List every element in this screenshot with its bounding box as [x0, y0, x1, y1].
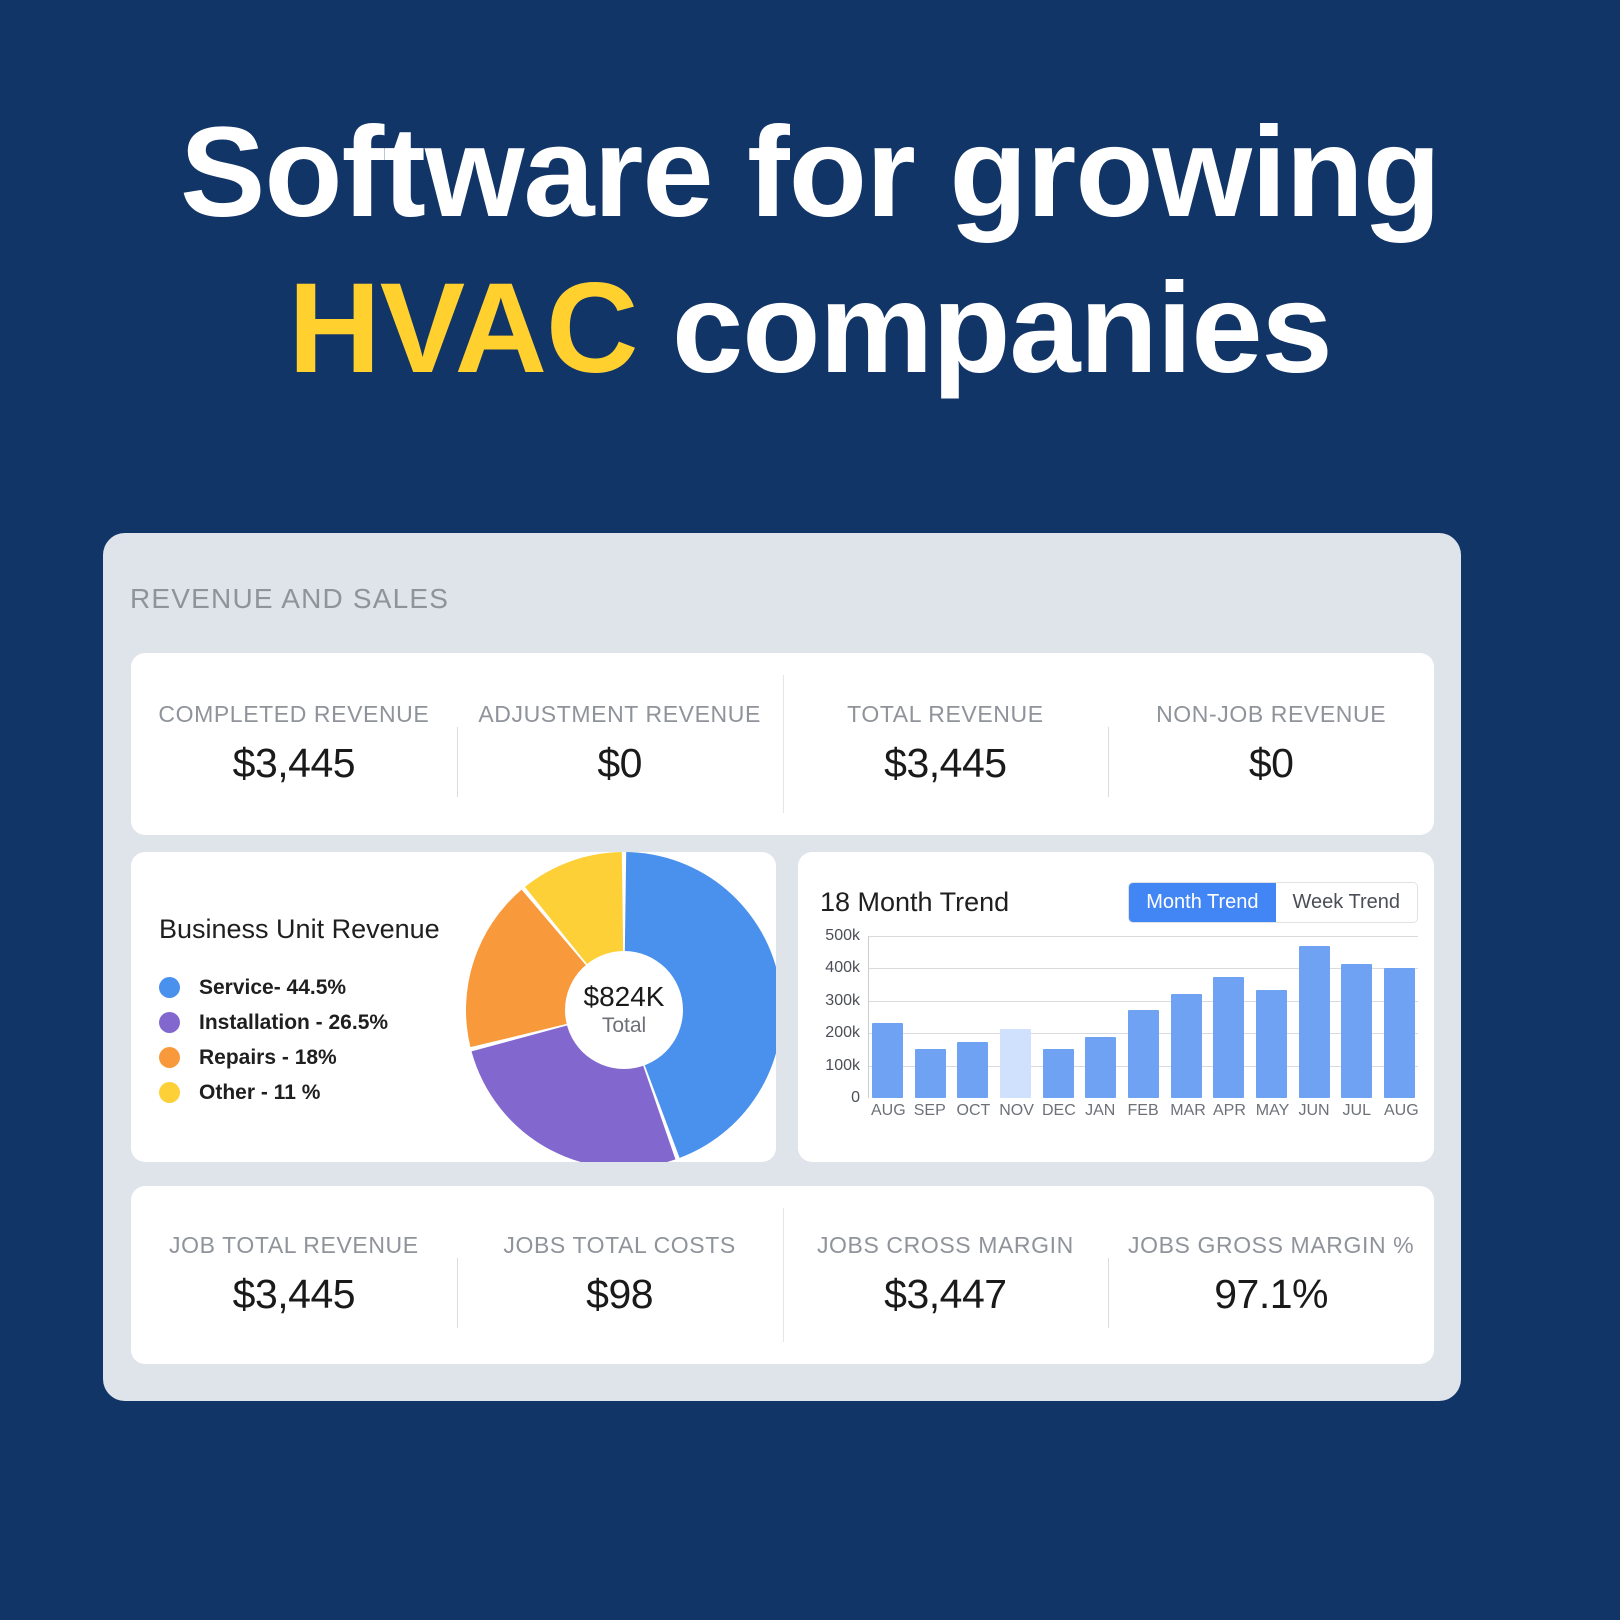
kpi-value: $3,447 [789, 1271, 1103, 1318]
kpi-row-bottom: JOB TOTAL REVENUE $3,445 JOBS TOTAL COST… [131, 1186, 1434, 1364]
bar[interactable] [915, 1049, 946, 1098]
x-axis-tick-label: OCT [957, 1102, 988, 1120]
kpi-value: $3,445 [137, 1271, 451, 1318]
x-axis-tick-label: AUG [871, 1102, 902, 1120]
kpi-job-total-revenue: JOB TOTAL REVENUE $3,445 [131, 1232, 457, 1318]
kpi-completed-revenue: COMPLETED REVENUE $3,445 [131, 701, 457, 787]
kpi-label: TOTAL REVENUE [789, 701, 1103, 728]
kpi-label: JOBS TOTAL COSTS [463, 1232, 777, 1259]
kpi-jobs-gross-margin-pct: JOBS GROSS MARGIN % 97.1% [1108, 1232, 1434, 1318]
bar[interactable] [1341, 964, 1372, 1098]
kpi-group-left: COMPLETED REVENUE $3,445 ADJUSTMENT REVE… [131, 653, 783, 835]
kpi-value: $0 [463, 740, 777, 787]
donut-legend: Service- 44.5%Installation - 26.5%Repair… [159, 970, 388, 1110]
bar[interactable] [1128, 1010, 1159, 1098]
kpi-value: 97.1% [1114, 1271, 1428, 1318]
bar[interactable] [1299, 946, 1330, 1098]
kpi-non-job-revenue: NON-JOB REVENUE $0 [1108, 701, 1434, 787]
legend-item[interactable]: Repairs - 18% [159, 1040, 388, 1075]
x-axis: AUGSEPOCTNOVDECJANFEBMARAPRMAYJUNJULAUG [868, 1102, 1418, 1120]
kpi-label: COMPLETED REVENUE [137, 701, 451, 728]
y-axis-tick-label: 200k [825, 1024, 860, 1042]
charts-row: Business Unit Revenue Service- 44.5%Inst… [131, 852, 1434, 1162]
trend-bar-chart: 0100k200k300k400k500k AUGSEPOCTNOVDECJAN… [820, 936, 1418, 1132]
bar[interactable] [957, 1042, 988, 1098]
legend-color-swatch [159, 1012, 180, 1033]
donut-chart-title: Business Unit Revenue [159, 914, 440, 945]
trend-toggle-group[interactable]: Month Trend Week Trend [1128, 882, 1418, 923]
x-axis-tick-label: JAN [1085, 1102, 1116, 1120]
bar[interactable] [1000, 1029, 1031, 1098]
hero-line-2: HVAC companies [100, 251, 1520, 407]
legend-color-swatch [159, 1047, 180, 1068]
kpi-adjustment-revenue: ADJUSTMENT REVENUE $0 [457, 701, 783, 787]
hero-line-2-rest: companies [637, 257, 1331, 400]
donut-total-caption: Total [602, 1014, 646, 1038]
section-title: REVENUE AND SALES [130, 583, 449, 615]
tab-week-trend[interactable]: Week Trend [1276, 883, 1417, 922]
plot-area [868, 936, 1418, 1098]
x-axis-tick-label: DEC [1042, 1102, 1073, 1120]
kpi-group-right-bottom: JOBS CROSS MARGIN $3,447 JOBS GROSS MARG… [783, 1186, 1435, 1364]
bar-series [869, 936, 1418, 1098]
kpi-label: ADJUSTMENT REVENUE [463, 701, 777, 728]
legend-label: Installation - 26.5% [199, 1011, 388, 1035]
kpi-label: JOB TOTAL REVENUE [137, 1232, 451, 1259]
kpi-value: $3,445 [789, 740, 1103, 787]
kpi-value: $98 [463, 1271, 777, 1318]
x-axis-tick-label: MAR [1170, 1102, 1201, 1120]
kpi-total-revenue: TOTAL REVENUE $3,445 [783, 701, 1109, 787]
legend-item[interactable]: Service- 44.5% [159, 970, 388, 1005]
y-axis-tick-label: 0 [851, 1089, 860, 1107]
donut-total-value: $824K [584, 982, 665, 1013]
tab-month-trend[interactable]: Month Trend [1129, 883, 1275, 922]
trend-chart-title: 18 Month Trend [820, 887, 1009, 918]
legend-color-swatch [159, 1082, 180, 1103]
donut-chart[interactable]: $824K Total [464, 852, 776, 1162]
bar[interactable] [1213, 977, 1244, 1098]
legend-item[interactable]: Installation - 26.5% [159, 1005, 388, 1040]
kpi-jobs-cross-margin: JOBS CROSS MARGIN $3,447 [783, 1232, 1109, 1318]
bar[interactable] [1384, 968, 1415, 1098]
bar[interactable] [1085, 1037, 1116, 1098]
month-trend-card: 18 Month Trend Month Trend Week Trend 01… [798, 852, 1434, 1162]
kpi-jobs-total-costs: JOBS TOTAL COSTS $98 [457, 1232, 783, 1318]
bar[interactable] [1043, 1049, 1074, 1098]
y-axis: 0100k200k300k400k500k [820, 936, 866, 1098]
business-unit-revenue-card: Business Unit Revenue Service- 44.5%Inst… [131, 852, 776, 1162]
kpi-label: JOBS GROSS MARGIN % [1114, 1232, 1428, 1259]
y-axis-tick-label: 500k [825, 927, 860, 945]
kpi-group-right: TOTAL REVENUE $3,445 NON-JOB REVENUE $0 [783, 653, 1435, 835]
trend-card-header: 18 Month Trend Month Trend Week Trend [820, 882, 1418, 923]
hero-accent-word: HVAC [288, 257, 637, 400]
donut-center-label: $824K Total [565, 951, 683, 1069]
y-axis-tick-label: 400k [825, 959, 860, 977]
x-axis-tick-label: APR [1213, 1102, 1244, 1120]
hero-line-1: Software for growing [100, 95, 1520, 251]
kpi-value: $0 [1114, 740, 1428, 787]
x-axis-tick-label: JUL [1341, 1102, 1372, 1120]
hero-heading: Software for growing HVAC companies [0, 0, 1620, 407]
legend-item[interactable]: Other - 11 % [159, 1075, 388, 1110]
x-axis-tick-label: NOV [999, 1102, 1030, 1120]
bar[interactable] [1171, 994, 1202, 1098]
kpi-label: JOBS CROSS MARGIN [789, 1232, 1103, 1259]
x-axis-tick-label: JUN [1299, 1102, 1330, 1120]
legend-label: Other - 11 % [199, 1081, 320, 1105]
kpi-value: $3,445 [137, 740, 451, 787]
kpi-row-top: COMPLETED REVENUE $3,445 ADJUSTMENT REVE… [131, 653, 1434, 835]
y-axis-tick-label: 300k [825, 992, 860, 1010]
legend-label: Service- 44.5% [199, 976, 346, 1000]
x-axis-tick-label: FEB [1128, 1102, 1159, 1120]
x-axis-tick-label: SEP [914, 1102, 945, 1120]
x-axis-tick-label: MAY [1256, 1102, 1287, 1120]
y-axis-tick-label: 100k [825, 1057, 860, 1075]
bar[interactable] [872, 1023, 903, 1098]
x-axis-tick-label: AUG [1384, 1102, 1415, 1120]
kpi-group-left-bottom: JOB TOTAL REVENUE $3,445 JOBS TOTAL COST… [131, 1186, 783, 1364]
kpi-label: NON-JOB REVENUE [1114, 701, 1428, 728]
bar[interactable] [1256, 990, 1287, 1098]
legend-color-swatch [159, 977, 180, 998]
legend-label: Repairs - 18% [199, 1046, 337, 1070]
